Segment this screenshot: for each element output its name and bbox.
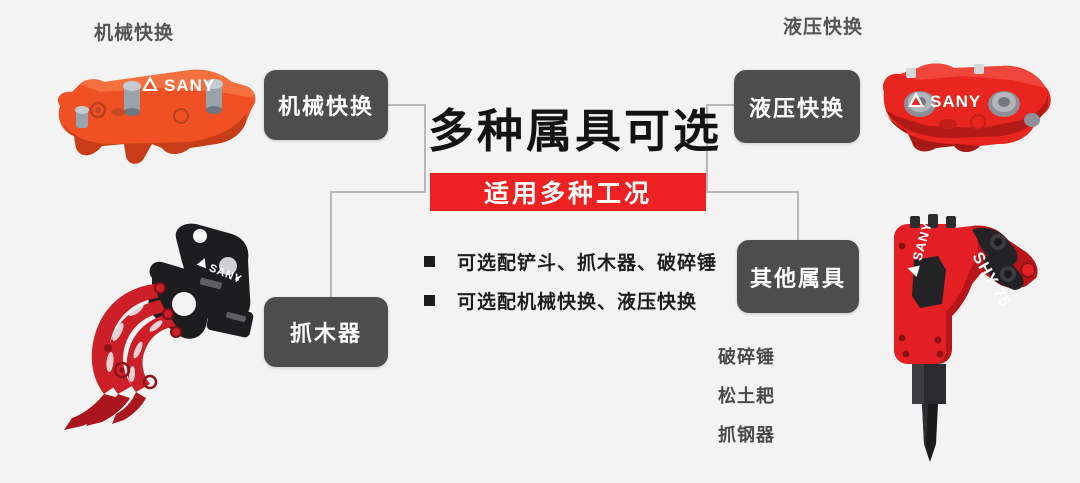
- caption-hydraulic-quick-coupler: 液压快换: [783, 12, 863, 39]
- connector-right-trunk-horizontal: [706, 191, 798, 193]
- svg-text:SANY: SANY: [930, 92, 981, 111]
- square-bullet-icon: [424, 256, 435, 267]
- infographic-canvas: 机械快换 液压快换 多种属具可选 适用多种工况 可选配铲斗、抓木器、破碎锤 可选…: [0, 0, 1080, 483]
- connector-other-vertical: [797, 191, 799, 241]
- caption-mechanical-quick-coupler: 机械快换: [94, 18, 174, 45]
- bullet-text: 可选配铲斗、抓木器、破碎锤: [457, 248, 717, 275]
- connector-left-trunk-horizontal: [330, 191, 426, 193]
- list-item: 可选配铲斗、抓木器、破碎锤: [424, 248, 717, 275]
- square-bullet-icon: [424, 295, 435, 306]
- product-image-wood-grapple: SANY: [56, 222, 286, 432]
- list-item: 可选配机械快换、液压快换: [424, 287, 717, 314]
- bullet-text: 可选配机械快换、液压快换: [457, 287, 697, 314]
- svg-text:SANY: SANY: [164, 76, 215, 95]
- product-image-hydraulic-breaker: SANY SHY 75: [876, 212, 1056, 467]
- feature-bullet-list: 可选配铲斗、抓木器、破碎锤 可选配机械快换、液压快换: [424, 248, 717, 326]
- node-label: 机械快换: [278, 89, 374, 121]
- product-image-mechanical-quick-coupler: SANY: [40, 48, 270, 188]
- list-item: 松土耙: [718, 382, 775, 408]
- node-mechanical-quick-coupler[interactable]: 机械快换: [264, 70, 388, 140]
- connector-mechanical-vertical: [424, 104, 426, 192]
- list-item: 破碎锤: [718, 343, 775, 369]
- subtitle-banner: 适用多种工况: [430, 173, 706, 211]
- list-item: 抓钢器: [718, 421, 775, 447]
- product-image-hydraulic-quick-coupler: SANY: [862, 48, 1058, 183]
- other-attachments-list: 破碎锤 松土耙 抓钢器: [718, 343, 775, 460]
- subtitle-banner-label: 适用多种工况: [484, 174, 652, 210]
- node-other-attachments[interactable]: 其他属具: [737, 240, 859, 313]
- node-label: 其他属具: [750, 261, 846, 293]
- connector-mechanical-horizontal: [388, 104, 426, 106]
- node-hydraulic-quick-coupler[interactable]: 液压快换: [734, 70, 860, 143]
- node-label: 液压快换: [749, 91, 845, 123]
- node-label: 抓木器: [290, 316, 362, 348]
- page-title: 多种属具可选: [428, 108, 722, 154]
